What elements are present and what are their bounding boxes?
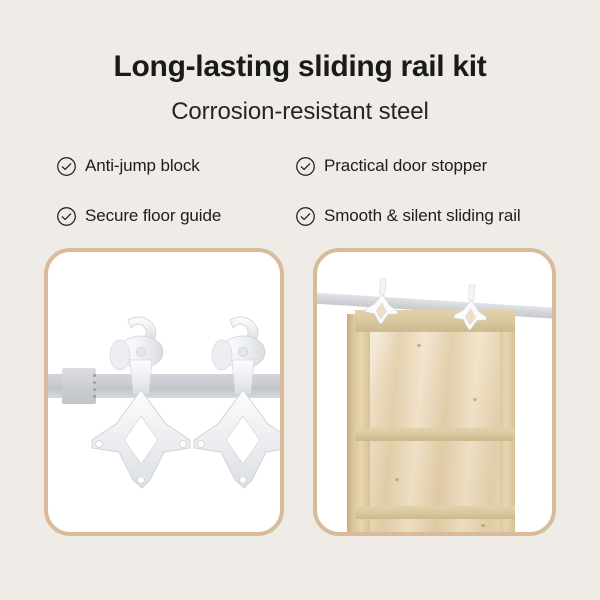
door-lower-rail <box>355 506 515 519</box>
feature-label: Smooth & silent sliding rail <box>324 206 521 226</box>
check-circle-icon <box>295 206 316 227</box>
door-stile-left <box>355 310 370 532</box>
wood-barn-door <box>355 310 515 532</box>
door-stile-right <box>500 310 515 532</box>
feature-item-anti-jump-block: Anti-jump block <box>56 150 295 182</box>
feature-item-secure-floor-guide: Secure floor guide <box>56 200 295 232</box>
check-circle-icon <box>56 156 77 177</box>
check-circle-icon <box>295 156 316 177</box>
page-subtitle: Corrosion-resistant steel <box>0 98 600 126</box>
feature-label: Anti-jump block <box>85 156 200 176</box>
check-circle-icon <box>56 206 77 227</box>
door-middle-rail <box>355 428 515 441</box>
feature-item-practical-door-stopper: Practical door stopper <box>295 150 556 182</box>
feature-label: Secure floor guide <box>85 206 221 226</box>
door-side-edge <box>347 314 355 532</box>
hardware-closeup-image <box>48 252 280 532</box>
panel-hardware-closeup <box>44 248 284 536</box>
feature-item-smooth-silent-sliding-rail: Smooth & silent sliding rail <box>295 200 556 232</box>
roller-hanger <box>86 312 196 502</box>
door-hanger <box>364 277 401 325</box>
wood-knot <box>481 524 485 527</box>
infographic-page: Long-lasting sliding rail kit Corrosion-… <box>0 0 600 600</box>
wood-knot <box>417 344 421 347</box>
page-title: Long-lasting sliding rail kit <box>0 50 600 84</box>
door-plywood-panel <box>355 310 515 532</box>
feature-list: Anti-jump block Practical door stopper S… <box>56 150 556 232</box>
wood-knot <box>395 478 399 481</box>
panel-installed-door <box>313 248 556 536</box>
wood-knot <box>473 398 477 401</box>
feature-label: Practical door stopper <box>324 156 487 176</box>
roller-hanger <box>188 312 280 502</box>
door-hanger <box>453 283 490 331</box>
installed-door-image <box>317 252 552 532</box>
